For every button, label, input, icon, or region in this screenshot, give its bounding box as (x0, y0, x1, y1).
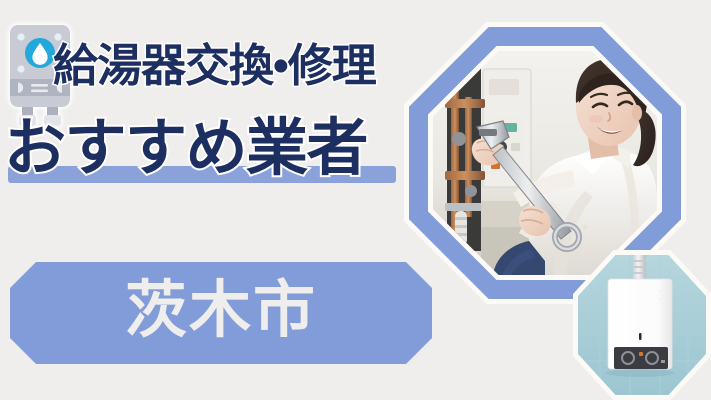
headline-secondary: おすすめ業者 (4, 118, 367, 180)
thumbnail-canvas: 給湯器交換•修理 おすすめ業者 茨木市 (0, 0, 711, 400)
headline-secondary-group: おすすめ業者 (4, 118, 406, 190)
city-banner: 茨木市 (10, 262, 432, 364)
headline-primary: 給湯器交換•修理 (53, 43, 376, 88)
wall-mounted-water-heater-photo (578, 255, 706, 395)
technician-servicing-water-heater-photo (433, 51, 657, 275)
city-name-label: 茨木市 (125, 280, 317, 346)
product-photo-frame (573, 250, 711, 400)
